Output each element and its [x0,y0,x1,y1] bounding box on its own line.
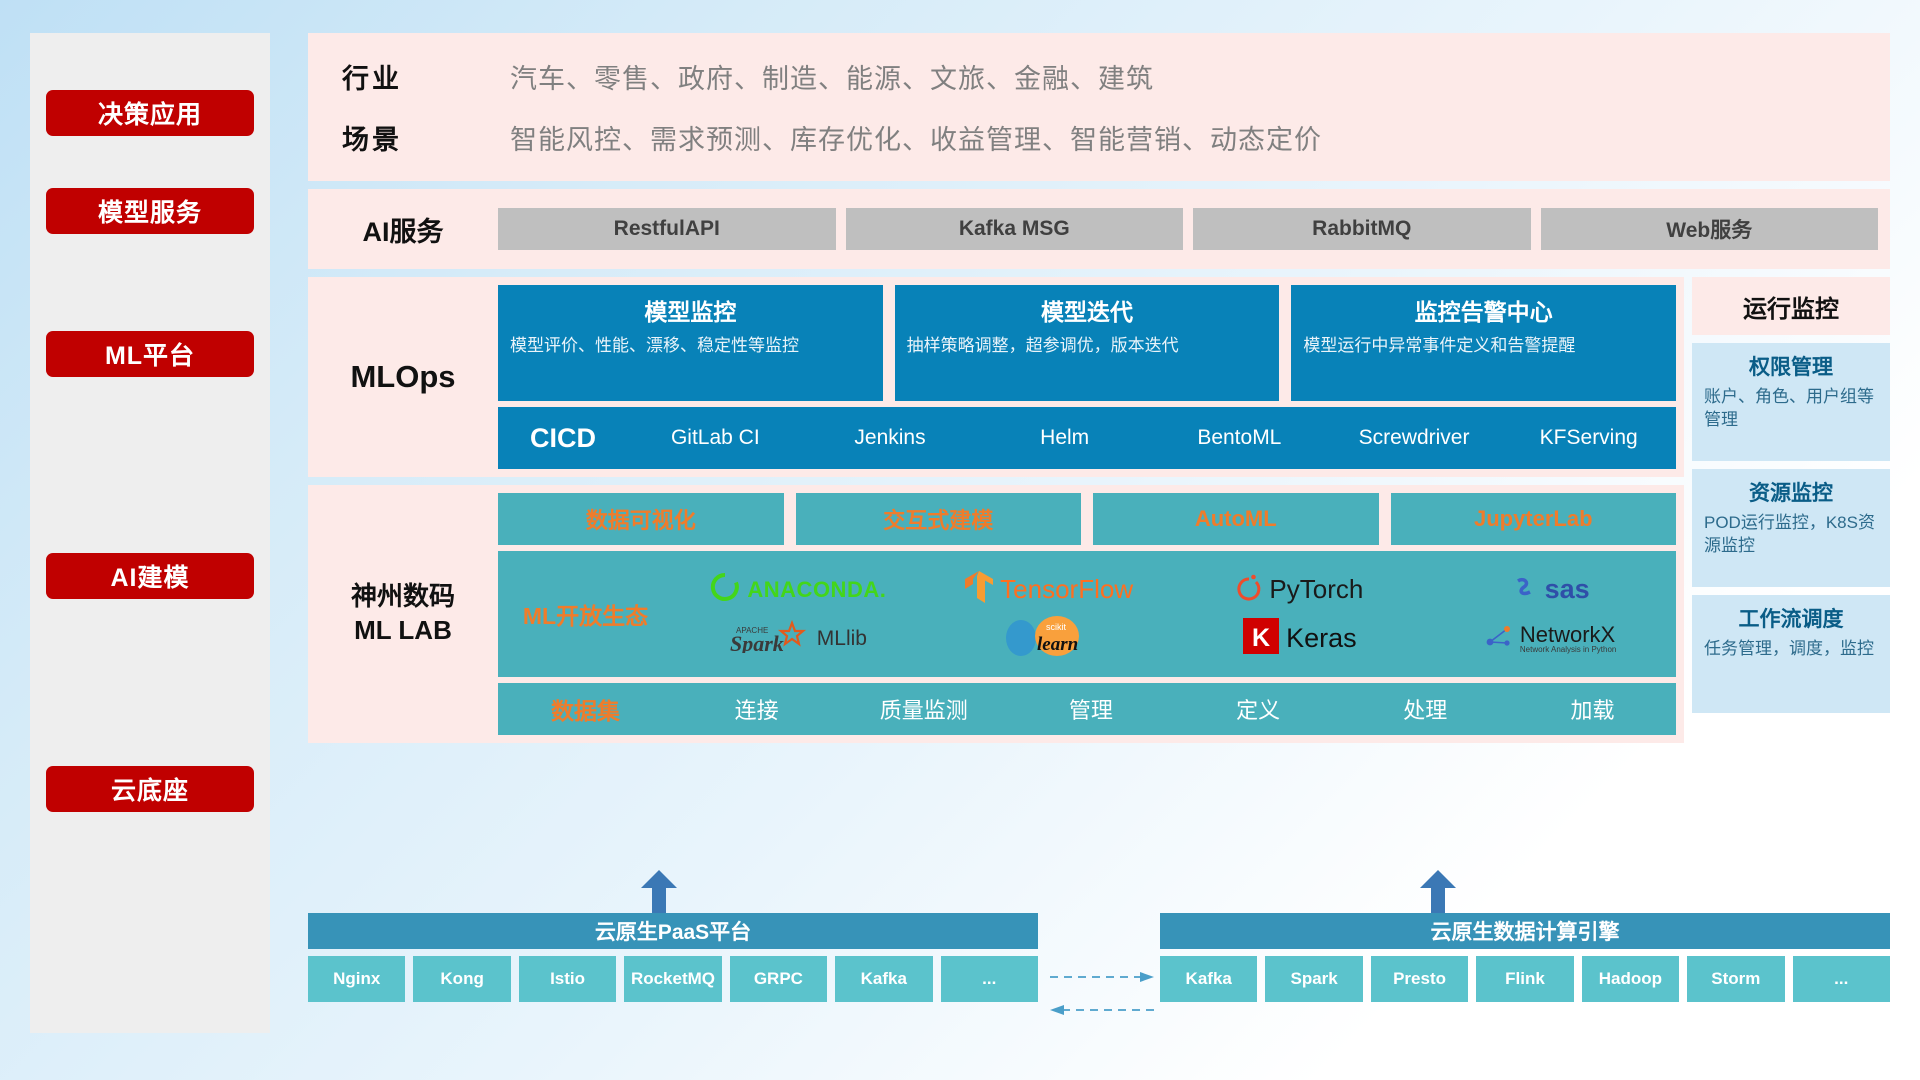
ai-chip-web-service[interactable]: Web服务 [1541,208,1879,250]
layer-rail: 决策应用 模型服务 ML平台 AI建模 云底座 [30,33,270,1033]
industry-value: 汽车、零售、政府、制造、能源、文旅、金融、建筑 [510,57,1878,96]
ml-eco-row: ML开放生态 ANACONDA. [498,551,1676,677]
band-ml-lab: 神州数码 ML LAB 数据可视化 交互式建模 AutoML JupyterLa… [308,485,1684,743]
main-column: 行业 场景 汽车、零售、政府、制造、能源、文旅、金融、建筑 智能风控、需求预测、… [308,33,1890,743]
paas-tag-istio[interactable]: Istio [519,956,616,1002]
ai-service-label: AI服务 [308,210,498,249]
decision-labels: 行业 场景 [320,33,510,181]
card-desc: 账户、角色、用户组等管理 [1704,386,1878,432]
cicd-item-gitlab-ci[interactable]: GitLab CI [628,427,803,449]
ai-chip-kafka-msg[interactable]: Kafka MSG [846,208,1184,250]
monitoring-card-permissions[interactable]: 权限管理 账户、角色、用户组等管理 [1692,343,1890,461]
mlops-card-model-monitor[interactable]: 模型监控 模型评价、性能、漂移、稳定性等监控 [498,285,883,401]
band-ai-service: AI服务 RestfulAPI Kafka MSG RabbitMQ Web服务 [308,189,1890,269]
card-title: 监控告警中心 [1303,293,1664,327]
paas-tag-grpc[interactable]: GRPC [730,956,827,1002]
card-desc: 任务管理，调度，监控 [1704,638,1878,661]
cicd-items: GitLab CI Jenkins Helm BentoML Screwdriv… [628,427,1676,449]
svg-text:K: K [1252,624,1270,652]
card-desc: 抽样策略调整，超参调优，版本迭代 [907,335,1268,358]
monitoring-card-resources[interactable]: 资源监控 POD运行监控，K8S资源监控 [1692,469,1890,587]
mlops-card-model-iteration[interactable]: 模型迭代 抽样策略调整，超参调优，版本迭代 [895,285,1280,401]
card-title: 权限管理 [1704,351,1878,381]
scikit-learn-icon: scikit learn [999,614,1099,663]
paas-bar[interactable]: 云原生PaaS平台 [308,913,1038,949]
layer-chip-ml-platform[interactable]: ML平台 [46,331,254,377]
paas-tag-nginx[interactable]: Nginx [308,956,405,1002]
mlops-card-alert-center[interactable]: 监控告警中心 模型运行中异常事件定义和告警提醒 [1291,285,1676,401]
cicd-row: CICD GitLab CI Jenkins Helm BentoML Scre… [498,407,1676,469]
logo-anaconda[interactable]: ANACONDA. [673,572,924,607]
card-title: 模型迭代 [907,293,1268,327]
card-title: 模型监控 [510,293,871,327]
logo-spark-mllib[interactable]: APACHE Spark MLlib [673,619,924,658]
engine-tag-flink[interactable]: Flink [1476,956,1573,1002]
platform-left: MLOps 模型监控 模型评价、性能、漂移、稳定性等监控 模型迭代 抽样策略调整… [308,277,1684,743]
pytorch-icon [1236,572,1262,607]
scenario-label: 场景 [342,118,510,157]
monitoring-card-workflow[interactable]: 工作流调度 任务管理，调度，监控 [1692,595,1890,713]
mlops-stack: 模型监控 模型评价、性能、漂移、稳定性等监控 模型迭代 抽样策略调整，超参调优，… [498,277,1684,477]
logo-label: ANACONDA. [747,577,886,603]
engine-tag-storm[interactable]: Storm [1687,956,1784,1002]
dataset-row: 数据集 连接 质量监测 管理 定义 处理 加载 [498,683,1676,735]
ai-chip-rabbitmq[interactable]: RabbitMQ [1193,208,1531,250]
layer-chip-decision[interactable]: 决策应用 [46,90,254,136]
svg-text:learn: learn [1037,634,1078,655]
dataset-op-manage[interactable]: 管理 [1007,693,1174,725]
paas-tag-kong[interactable]: Kong [413,956,510,1002]
tool-jupyterlab[interactable]: JupyterLab [1391,493,1677,545]
svg-text:scikit: scikit [1046,622,1066,632]
dashed-arrow-right [1050,970,1154,989]
monitoring-sidebar: 运行监控 权限管理 账户、角色、用户组等管理 资源监控 POD运行监控，K8S资… [1692,277,1890,743]
band-mlops: MLOps 模型监控 模型评价、性能、漂移、稳定性等监控 模型迭代 抽样策略调整… [308,277,1684,477]
logo-pytorch[interactable]: PyTorch [1175,572,1426,607]
tool-data-visualization[interactable]: 数据可视化 [498,493,784,545]
card-desc: 模型运行中异常事件定义和告警提醒 [1303,335,1664,358]
keras-icon: K [1243,618,1279,659]
logo-label: NetworkX [1520,624,1617,646]
anaconda-icon [710,572,740,607]
spark-icon: APACHE Spark [730,619,810,658]
mlops-cards: 模型监控 模型评价、性能、漂移、稳定性等监控 模型迭代 抽样策略调整，超参调优，… [498,285,1676,401]
tool-automl[interactable]: AutoML [1093,493,1379,545]
engine-bar[interactable]: 云原生数据计算引擎 [1160,913,1890,949]
sas-icon [1512,574,1538,605]
dataset-op-connect[interactable]: 连接 [673,693,840,725]
engine-tag-spark[interactable]: Spark [1265,956,1362,1002]
ai-service-chips: RestfulAPI Kafka MSG RabbitMQ Web服务 [498,208,1890,250]
logo-label: Keras [1286,623,1357,654]
cloud-base-region: 云原生PaaS平台 云原生数据计算引擎 Nginx Kong Istio Roc… [308,888,1890,1038]
platform-region: MLOps 模型监控 模型评价、性能、漂移、稳定性等监控 模型迭代 抽样策略调整… [308,277,1890,743]
logo-label: MLlib [817,627,867,651]
ml-eco-title: ML开放生态 [498,597,673,631]
engine-tag-hadoop[interactable]: Hadoop [1582,956,1679,1002]
engine-tag-kafka[interactable]: Kafka [1160,956,1257,1002]
ml-lab-label: 神州数码 ML LAB [308,485,498,743]
engine-tags: Kafka Spark Presto Flink Hadoop Storm ..… [1160,956,1890,1002]
arrow-up-paas [641,870,677,914]
paas-tag-more[interactable]: ... [941,956,1038,1002]
cicd-item-helm[interactable]: Helm [977,427,1152,449]
networkx-tagline: Network Analysis in Python [1520,646,1617,654]
paas-tag-rocketmq[interactable]: RocketMQ [624,956,721,1002]
ml-lab-label-line1: 神州数码 [351,580,455,614]
monitoring-title: 运行监控 [1692,277,1890,335]
dataset-label: 数据集 [498,692,673,726]
cicd-item-bentoml[interactable]: BentoML [1152,427,1327,449]
dashed-arrow-left [1050,1003,1154,1022]
band-decision-apps: 行业 场景 汽车、零售、政府、制造、能源、文旅、金融、建筑 智能风控、需求预测、… [308,33,1890,181]
cicd-item-screwdriver[interactable]: Screwdriver [1327,427,1502,449]
ml-lab-label-line2: ML LAB [354,614,452,648]
engine-tag-presto[interactable]: Presto [1371,956,1468,1002]
card-desc: POD运行监控，K8S资源监控 [1704,512,1878,558]
dataset-op-load[interactable]: 加载 [1509,693,1676,725]
ml-lab-tools: 数据可视化 交互式建模 AutoML JupyterLab [498,493,1676,545]
scenario-value: 智能风控、需求预测、库存优化、收益管理、智能营销、动态定价 [510,118,1878,157]
card-desc: 模型评价、性能、漂移、稳定性等监控 [510,335,871,358]
logo-sas[interactable]: sas [1425,574,1676,605]
ml-eco-logos: ANACONDA. TensorFlow [673,565,1676,663]
mlops-label: MLOps [308,277,498,477]
dataset-op-define[interactable]: 定义 [1175,693,1342,725]
logo-tensorflow[interactable]: TensorFlow [924,571,1175,608]
arrow-up-engine [1420,870,1456,914]
logo-keras[interactable]: K Keras [1175,618,1426,659]
layer-chip-ai-modeling[interactable]: AI建模 [46,553,254,599]
logo-label: TensorFlow [1000,574,1133,605]
paas-tag-kafka[interactable]: Kafka [835,956,932,1002]
ml-lab-stack: 数据可视化 交互式建模 AutoML JupyterLab ML开放生态 [498,485,1684,743]
tool-interactive-modeling[interactable]: 交互式建模 [796,493,1082,545]
logo-label: sas [1545,574,1590,605]
engine-tag-more[interactable]: ... [1793,956,1890,1002]
logo-scikit-learn[interactable]: scikit learn [924,614,1175,663]
dataset-ops: 连接 质量监测 管理 定义 处理 加载 [673,693,1676,725]
paas-tags: Nginx Kong Istio RocketMQ GRPC Kafka ... [308,956,1038,1002]
dataset-op-quality[interactable]: 质量监测 [840,693,1007,725]
card-title: 工作流调度 [1704,603,1878,633]
decision-values: 汽车、零售、政府、制造、能源、文旅、金融、建筑 智能风控、需求预测、库存优化、收… [510,33,1878,181]
architecture-diagram: 决策应用 模型服务 ML平台 AI建模 云底座 行业 场景 汽车、零售、政府、制… [0,0,1920,1080]
cicd-item-kfserving[interactable]: KFServing [1501,427,1676,449]
logo-networkx[interactable]: NetworkX Network Analysis in Python [1425,622,1676,655]
ai-chip-restfulapi[interactable]: RestfulAPI [498,208,836,250]
layer-chip-cloud-base[interactable]: 云底座 [46,766,254,812]
networkx-icon [1485,622,1513,655]
svg-text:Spark: Spark [730,631,784,653]
cicd-item-jenkins[interactable]: Jenkins [803,427,978,449]
dataset-op-process[interactable]: 处理 [1342,693,1509,725]
industry-label: 行业 [342,57,510,96]
tensorflow-icon [965,571,993,608]
logo-label: PyTorch [1269,574,1363,605]
layer-chip-model-svc[interactable]: 模型服务 [46,188,254,234]
card-title: 资源监控 [1704,477,1878,507]
cicd-label: CICD [498,423,628,454]
